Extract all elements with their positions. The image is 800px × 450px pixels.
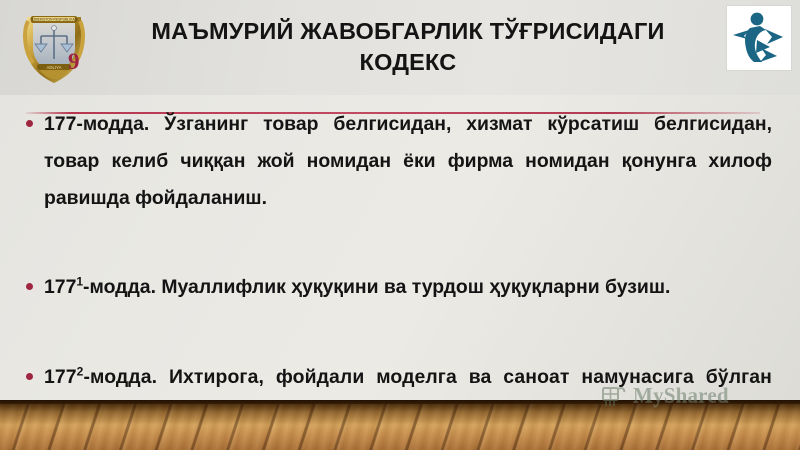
- bullet-marker: [26, 283, 33, 290]
- coat-of-arms-scales-of-justice-icon: ADLIYA O'ZBEKISTON RESPUBLIKASI: [21, 7, 87, 87]
- article-suffix: -модда.: [76, 113, 149, 135]
- abstract-person-figure-icon: [727, 6, 791, 70]
- presentation-slide: ADLIYA O'ZBEKISTON RESPUBLIKASI 9 МАЪМУР…: [0, 0, 800, 450]
- article-suffix: -модда.: [83, 276, 156, 298]
- book-paint-roller-icon: [600, 381, 628, 409]
- article-text: 1771-модда. Муаллифлик ҳуқуқини ва турдо…: [44, 276, 670, 298]
- watermark-label: MyShared: [633, 383, 729, 408]
- article-suffix: -модда.: [83, 366, 157, 388]
- article-number: 177: [44, 366, 77, 388]
- page-title: МАЪМУРИЙ ЖАВОБГАРЛИК ТЎҒРИСИДАГИ КОДЕКС: [108, 16, 708, 78]
- myshared-watermark: MyShared: [600, 378, 790, 412]
- svg-text:ADLIYA: ADLIYA: [47, 65, 62, 70]
- svg-text:O'ZBEKISTON RESPUBLIKASI: O'ZBEKISTON RESPUBLIKASI: [30, 18, 78, 22]
- article-text: 177-модда. Ўзганинг товар белгисидан, хи…: [44, 113, 772, 209]
- article-body: Ўзганинг товар белгисидан, хизмат кўрсат…: [44, 113, 772, 209]
- bullet-marker: [26, 120, 33, 127]
- bullet-marker: [26, 373, 33, 380]
- slide-header-band: ADLIYA O'ZBEKISTON RESPUBLIKASI 9 МАЪМУР…: [0, 0, 800, 95]
- article-body: Муаллифлик ҳуқуқини ва турдош ҳуқуқларни…: [161, 276, 670, 298]
- list-item: 1771-модда. Муаллифлик ҳуқуқини ва турдо…: [0, 269, 800, 306]
- emblem-flourish-mark: 9: [68, 50, 86, 74]
- article-number: 177: [44, 113, 76, 135]
- list-item: 177-модда. Ўзганинг товар белгисидан, хи…: [0, 106, 800, 217]
- article-number: 177: [44, 276, 76, 298]
